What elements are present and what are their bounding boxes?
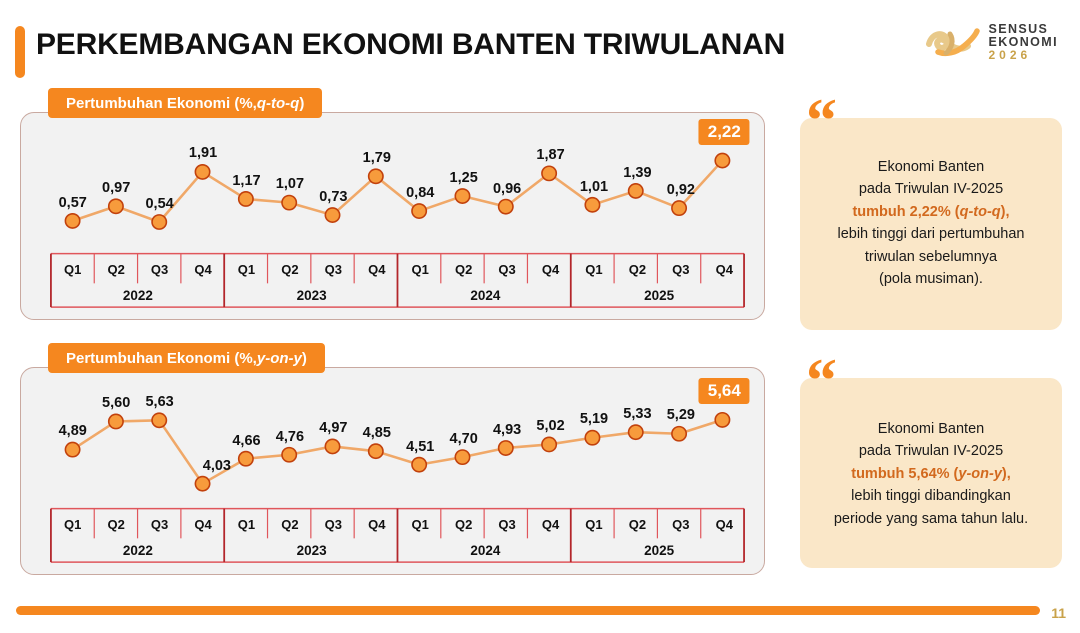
page-title: PERKEMBANGAN EKONOMI BANTEN TRIWULANAN: [36, 28, 785, 62]
chart-1-quarter-label: Q3: [672, 262, 689, 277]
chart-1-badge-suffix: ): [299, 95, 304, 112]
callout-1-line-2: pada Triwulan IV-2025: [814, 178, 1048, 200]
quote-mark-icon: “: [806, 350, 837, 412]
chart-2-quarter-label: Q3: [498, 517, 515, 532]
chart-2-quarter-label: Q1: [64, 517, 81, 532]
callout-1-line-5: triwulan sebelumnya: [814, 246, 1048, 268]
chart-1-badge-italic: q-to-q: [257, 95, 299, 112]
chart-2-data-label: 4,51: [406, 439, 434, 455]
chart-2-data-label: 4,89: [59, 423, 87, 439]
chart-2-quarter-label: Q4: [194, 517, 211, 532]
sensus-ekonomi-swoosh-icon: [926, 22, 980, 62]
callout-2-line-1: Ekonomi Banten: [814, 418, 1048, 440]
chart-2-quarter-label: Q2: [629, 517, 646, 532]
callout-1-line-6: (pola musiman).: [814, 268, 1048, 290]
chart-1-badge-prefix: Pertumbuhan Ekonomi (%,: [66, 95, 257, 112]
chart-1-data-label: 1,87: [536, 147, 564, 163]
chart-1-quarter-label: Q2: [455, 262, 472, 277]
chart-2-data-label: 4,66: [232, 433, 260, 449]
chart-2-year-label: 2024: [470, 543, 500, 558]
chart-2-quarter-label: Q4: [716, 517, 733, 532]
callout-2-line-5: periode yang sama tahun lalu.: [814, 508, 1048, 530]
chart-1-year-label: 2025: [644, 288, 674, 303]
chart-2-data-label: 4,85: [363, 425, 391, 441]
chart-1-data-label: 1,91: [189, 145, 217, 161]
chart-1-quarter-label: Q4: [716, 262, 733, 277]
chart-2-data-label: 4,03: [203, 458, 231, 474]
chart-1-data-label: 1,39: [623, 165, 651, 181]
logo: SENSUS EKONOMI 2026: [926, 22, 1058, 62]
chart-1-data-label: 0,57: [59, 195, 87, 211]
chart-2-data-label: 5,60: [102, 395, 130, 411]
chart-1-quarter-label: Q1: [412, 262, 429, 277]
chart-1-data-label: 0,96: [493, 181, 521, 197]
chart-1-data-label: 0,73: [319, 189, 347, 205]
chart-1-quarter-label: Q2: [281, 262, 298, 277]
chart-2-data-label: 4,93: [493, 422, 521, 438]
chart-2-data-label: 4,76: [276, 429, 304, 445]
title-accent-bar: [15, 26, 25, 78]
chart-2-quarter-label: Q1: [585, 517, 602, 532]
chart-1-quarter-label: Q3: [151, 262, 168, 277]
chart-1-data-label: 2,22: [699, 119, 750, 145]
callout-2-hl-suffix: ),: [1002, 466, 1011, 482]
chart-2-badge-prefix: Pertumbuhan Ekonomi (%,: [66, 350, 257, 367]
chart-1-data-label: 1,79: [363, 150, 391, 166]
chart-2-year-label: 2025: [644, 543, 674, 558]
quote-mark-icon: “: [806, 90, 837, 152]
chart-2-data-label: 5,64: [699, 378, 750, 404]
chart-1-quarter-label: Q2: [107, 262, 124, 277]
callout-2-text: Ekonomi Banten pada Triwulan IV-2025 tum…: [800, 418, 1062, 530]
logo-line-3: 2026: [988, 49, 1058, 61]
callout-1-line-4: lebih tinggi dari pertumbuhan: [814, 223, 1048, 245]
footer-bar: [16, 606, 1040, 615]
callout-2-highlight: tumbuh 5,64% (y-on-y),: [814, 463, 1048, 485]
callout-1: “ Ekonomi Banten pada Triwulan IV-2025 t…: [800, 118, 1062, 330]
callout-1-hl-italic: q-to-q: [960, 204, 1001, 220]
callout-2-line-4: lebih tinggi dibandingkan: [814, 485, 1048, 507]
chart-1-quarter-label: Q3: [325, 262, 342, 277]
chart-1-data-label: 0,54: [145, 196, 173, 212]
chart-2-quarter-label: Q3: [151, 517, 168, 532]
chart-1-quarter-label: Q2: [629, 262, 646, 277]
callout-1-hl-prefix: tumbuh 2,22% (: [852, 204, 959, 220]
chart-1-data-label: 0,84: [406, 185, 434, 201]
callout-2: “ Ekonomi Banten pada Triwulan IV-2025 t…: [800, 378, 1062, 568]
chart-2-quarter-label: Q3: [325, 517, 342, 532]
chart-2-panel: 4,895,605,634,034,664,764,974,854,514,70…: [20, 367, 765, 575]
callout-1-text: Ekonomi Banten pada Triwulan IV-2025 tum…: [800, 156, 1062, 291]
chart-1-quarter-label: Q4: [368, 262, 385, 277]
chart-2-data-label: 4,97: [319, 420, 347, 436]
chart-1-quarter-label: Q1: [585, 262, 602, 277]
page-number: 11: [1051, 605, 1066, 621]
chart-2-quarter-label: Q4: [368, 517, 385, 532]
callout-2-line-2: pada Triwulan IV-2025: [814, 440, 1048, 462]
chart-2-badge-italic: y-on-y: [257, 350, 302, 367]
callout-1-hl-suffix: ),: [1001, 204, 1010, 220]
chart-1-data-label: 1,07: [276, 176, 304, 192]
chart-1-data-label: 1,01: [580, 179, 608, 195]
chart-1-year-label: 2024: [470, 288, 500, 303]
chart-1-data-label: 0,97: [102, 180, 130, 196]
chart-1-badge: Pertumbuhan Ekonomi (%, q-to-q): [48, 88, 322, 118]
chart-2-quarter-label: Q2: [281, 517, 298, 532]
logo-line-2: EKONOMI: [988, 36, 1058, 49]
chart-2-data-label: 5,63: [145, 394, 173, 410]
chart-2-quarter-label: Q1: [412, 517, 429, 532]
chart-2-quarter-label: Q2: [455, 517, 472, 532]
logo-line-1: SENSUS: [988, 23, 1058, 36]
chart-2-year-label: 2022: [123, 543, 153, 558]
chart-1-quarter-label: Q3: [498, 262, 515, 277]
chart-2-quarter-label: Q2: [107, 517, 124, 532]
chart-2-data-label: 5,02: [536, 418, 564, 434]
chart-1-data-label: 1,17: [232, 173, 260, 189]
chart-1-data-label: 0,92: [667, 182, 695, 198]
chart-2-badge: Pertumbuhan Ekonomi (%, y-on-y): [48, 343, 325, 373]
chart-1-quarter-label: Q4: [542, 262, 559, 277]
chart-1-data-label: 1,25: [450, 170, 478, 186]
chart-1-quarter-label: Q4: [194, 262, 211, 277]
chart-2-badge-suffix: ): [302, 350, 307, 367]
chart-2-data-label: 5,19: [580, 411, 608, 427]
chart-2-quarter-label: Q1: [238, 517, 255, 532]
chart-2-data-label: 5,29: [667, 407, 695, 423]
chart-2-data-label: 5,33: [623, 406, 651, 422]
chart-1-year-label: 2023: [297, 288, 327, 303]
callout-2-hl-prefix: tumbuh 5,64% (: [851, 466, 958, 482]
callout-2-hl-italic: y-on-y: [958, 466, 1002, 482]
chart-2-data-label: 4,70: [450, 431, 478, 447]
chart-1-quarter-label: Q1: [238, 262, 255, 277]
chart-2-quarter-label: Q3: [672, 517, 689, 532]
callout-1-line-1: Ekonomi Banten: [814, 156, 1048, 178]
chart-1-year-label: 2022: [123, 288, 153, 303]
chart-2-year-label: 2023: [297, 543, 327, 558]
slide: PERKEMBANGAN EKONOMI BANTEN TRIWULANAN S…: [0, 0, 1080, 633]
callout-1-highlight: tumbuh 2,22% (q-to-q),: [814, 201, 1048, 223]
chart-2-quarter-label: Q4: [542, 517, 559, 532]
chart-1-panel: 0,570,970,541,911,171,070,731,790,841,25…: [20, 112, 765, 320]
chart-1-quarter-label: Q1: [64, 262, 81, 277]
